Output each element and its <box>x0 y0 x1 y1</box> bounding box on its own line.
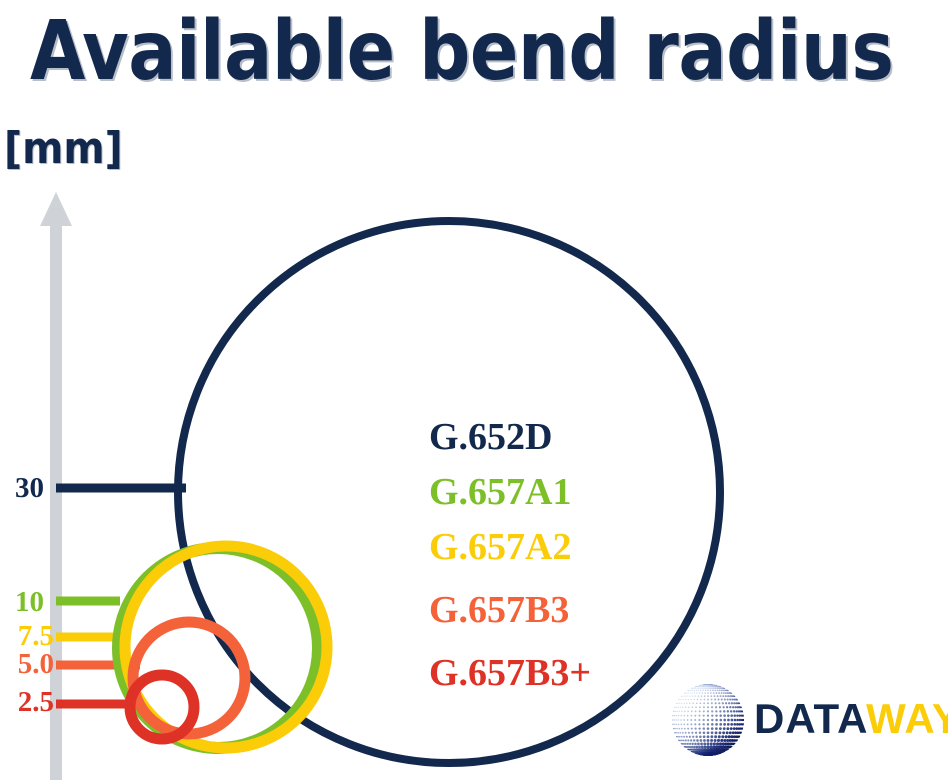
legend-item-g652d: G.652D <box>429 410 759 465</box>
tick-label-30: 30 <box>0 474 44 503</box>
logo-text-data: DATA <box>754 695 866 742</box>
legend-item-g657a1: G.657A1 <box>429 465 759 520</box>
infographic-canvas: Available bend radius [mm] 30 10 7.5 5.0… <box>0 0 948 780</box>
tick-label-2-5: 2.5 <box>0 688 54 717</box>
logo-text-way: WAY <box>866 695 948 742</box>
legend: G.652D G.657A1 G.657A2 G.657B3 G.657B3+ <box>429 410 759 701</box>
tick-label-10: 10 <box>0 588 44 617</box>
legend-item-g657b3: G.657B3 <box>429 583 759 638</box>
axis-arrowhead-icon <box>40 192 72 226</box>
globe-icon <box>668 680 748 760</box>
logo-wordmark: DATAWAY <box>754 694 948 744</box>
tick-label-5-0: 5.0 <box>0 650 54 679</box>
dataway-logo: DATAWAY <box>668 676 938 764</box>
globe-dot-mesh <box>671 684 745 758</box>
tick-label-7-5: 7.5 <box>0 622 54 651</box>
legend-item-g657a2: G.657A2 <box>429 520 759 575</box>
